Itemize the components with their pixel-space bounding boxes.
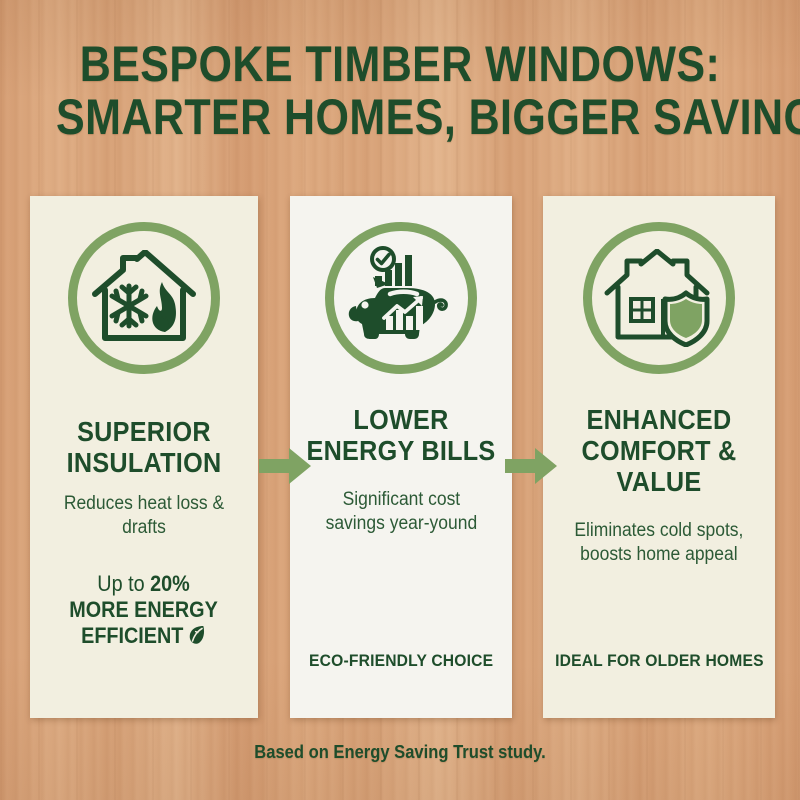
panel-1-stat-bold-1: MORE ENERGY	[70, 597, 219, 623]
panel-1-subtitle: Reduces heat loss & drafts	[39, 492, 249, 540]
house-snowflake-flame-icon	[89, 250, 199, 346]
arrow-panel2-to-panel3	[505, 447, 557, 485]
benefit-card-lower-energy-bills: LOWER ENERGY BILLS Significant cost savi…	[290, 196, 512, 718]
panel-2-tag: ECO-FRIENDLY CHOICE	[309, 651, 493, 671]
infographic-canvas: BESPOKE TIMBER WINDOWS: SMARTER HOMES, B…	[0, 0, 800, 800]
panel-1-stat-value: 20%	[151, 571, 191, 596]
icon-ring-1	[68, 222, 220, 374]
benefit-card-superior-insulation: SUPERIOR INSULATION Reduces heat loss & …	[30, 196, 258, 718]
arrow-panel1-to-panel2	[259, 447, 311, 485]
panel-1-stat-light: Up to	[98, 571, 151, 596]
panel-1-stat-block: Up to 20% MORE ENERGY EFFICIENT	[61, 571, 226, 652]
icon-ring-2	[325, 222, 477, 374]
panel-3-tag: IDEAL FOR OLDER HOMES	[555, 651, 764, 671]
house-shield-icon	[603, 249, 715, 347]
title-line-2: SMARTER HOMES, BIGGER SAVINGS	[56, 91, 744, 144]
panel-2-subtitle-line-1: Significant cost	[342, 489, 460, 510]
panel-1-stat-line-3: EFFICIENT	[70, 623, 219, 652]
panel-3-subtitle: Eliminates cold spots, boosts home appea…	[567, 519, 751, 567]
footer-source-note: Based on Energy Saving Trust study.	[32, 742, 768, 763]
panel-2-subtitle: Significant cost savings year-yound	[318, 488, 484, 536]
panel-1-heading: SUPERIOR INSULATION	[41, 416, 246, 478]
panel-2-heading: LOWER ENERGY BILLS	[301, 404, 501, 466]
benefit-card-enhanced-comfort-value: ENHANCED COMFORT & VALUE Eliminates cold…	[543, 196, 775, 718]
panel-3-heading: ENHANCED COMFORT & VALUE	[555, 404, 764, 497]
icon-ring-3	[583, 222, 735, 374]
title-line-1: BESPOKE TIMBER WINDOWS:	[56, 38, 744, 91]
panel-1-stat-bold-2: EFFICIENT	[82, 623, 184, 648]
panel-3-subtitle-line-2: boosts home appeal	[580, 544, 737, 565]
panel-3-subtitle-line-1: Eliminates cold spots,	[574, 520, 743, 541]
page-title: BESPOKE TIMBER WINDOWS: SMARTER HOMES, B…	[0, 38, 800, 144]
piggy-bank-growth-icon	[345, 246, 457, 350]
panel-1-stat-line-2: MORE ENERGY	[70, 597, 219, 623]
panel-2-subtitle-line-2: savings year-yound	[325, 513, 477, 534]
leaf-icon	[188, 624, 206, 652]
panel-1-stat-line-1: Up to 20%	[70, 571, 219, 597]
